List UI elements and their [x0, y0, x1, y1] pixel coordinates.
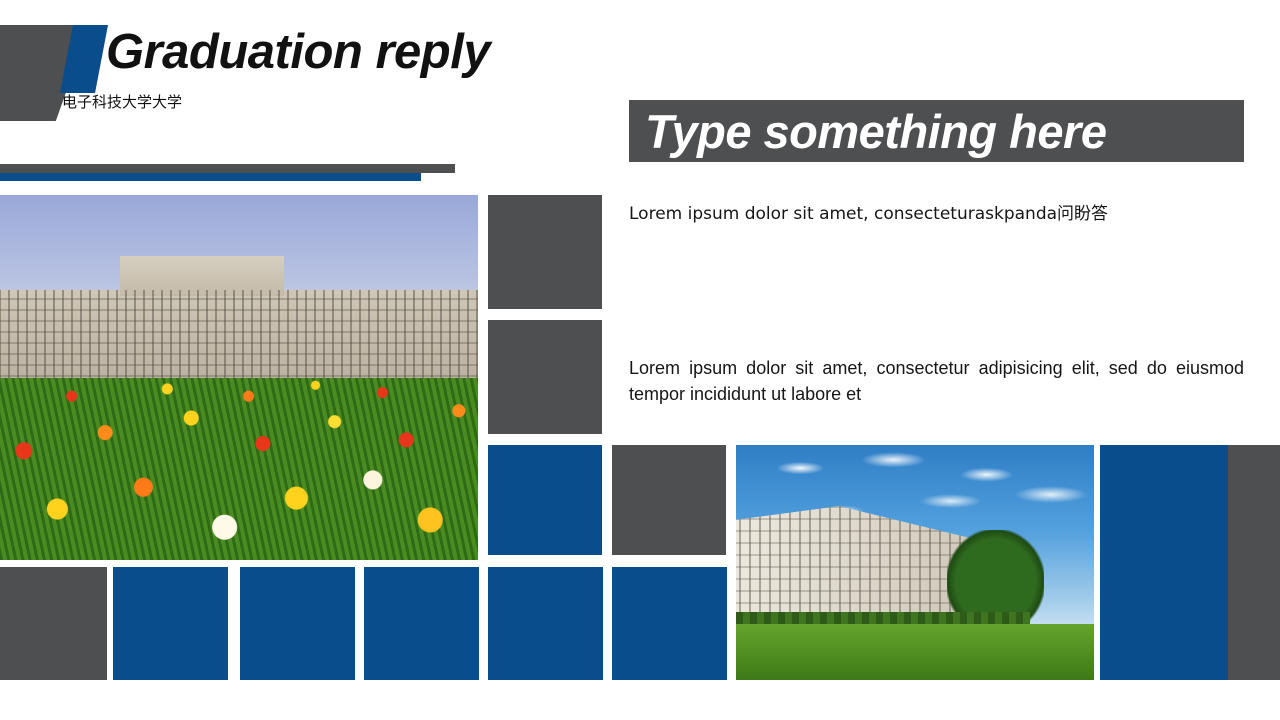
gray-block-top-1[interactable]: [488, 195, 602, 309]
photo-lawn: [736, 624, 1094, 680]
blue-block-bottom-3[interactable]: [364, 567, 479, 680]
photo-tree: [947, 530, 1044, 624]
divider-rule-blue: [0, 173, 421, 181]
photo-building: [0, 290, 478, 389]
page-title: Graduation reply: [106, 28, 490, 77]
banner-heading: Type something here: [629, 100, 1244, 162]
photo-campus-flowers: [0, 195, 478, 560]
gray-block-mid-1[interactable]: [612, 445, 726, 555]
blue-block-bottom-1[interactable]: [113, 567, 228, 680]
body-paragraph-1: Lorem ipsum dolor sit amet, consectetura…: [629, 202, 1239, 227]
gray-block-bottom-1[interactable]: [0, 567, 107, 680]
blue-block-bottom-2[interactable]: [240, 567, 355, 680]
gray-block-top-2[interactable]: [488, 320, 602, 434]
photo-flower-field: [0, 378, 478, 561]
presentation-slide: Graduation reply 电子科技大学大学 Type something…: [0, 0, 1280, 720]
body-paragraph-2: Lorem ipsum dolor sit amet, consectetur …: [629, 355, 1244, 407]
gray-block-right-edge[interactable]: [1228, 445, 1280, 680]
blue-block-bottom-5[interactable]: [612, 567, 727, 680]
blue-block-right-tall[interactable]: [1100, 445, 1228, 680]
blue-block-bottom-4[interactable]: [488, 567, 603, 680]
divider-rule-gray: [0, 164, 455, 173]
page-subtitle: 电子科技大学大学: [62, 91, 182, 112]
blue-block-mid-1[interactable]: [488, 445, 602, 555]
banner-heading-label: Type something here: [629, 108, 1106, 155]
photo-university-building: [736, 445, 1094, 680]
